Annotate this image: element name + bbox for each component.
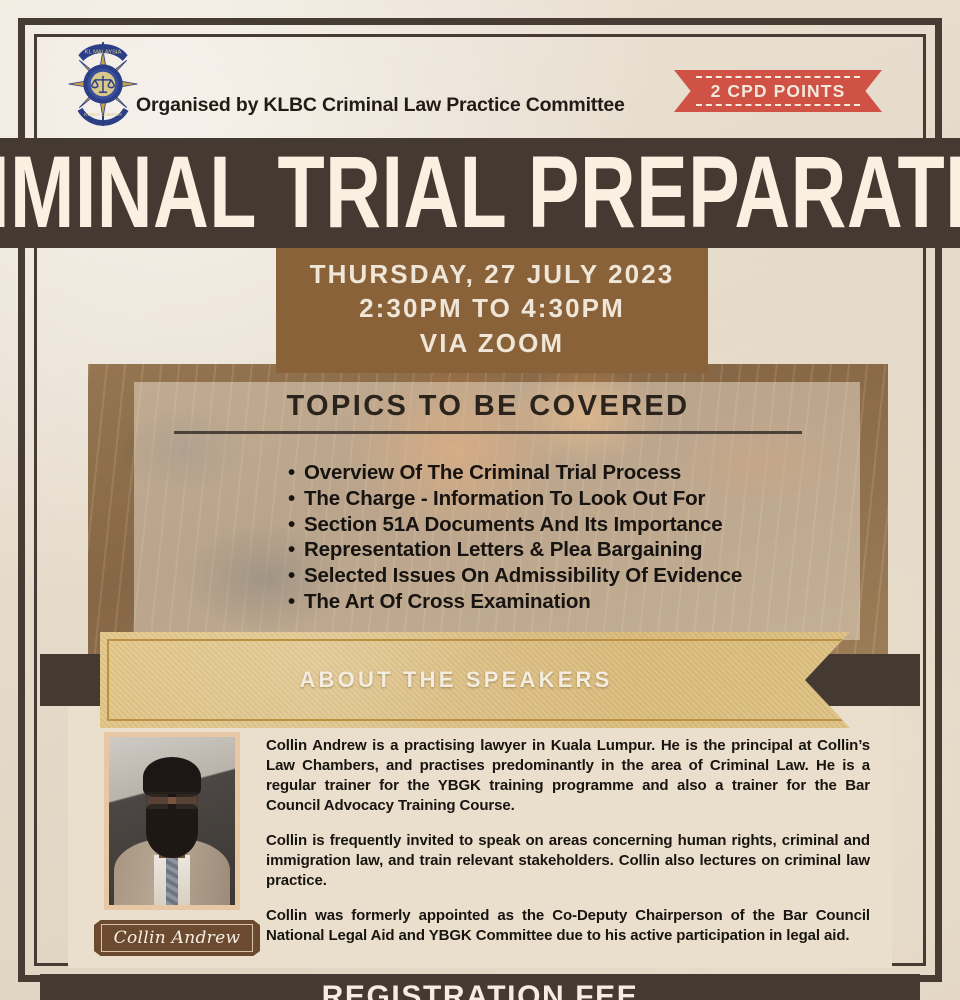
bio-paragraph: Collin is frequently invited to speak on… [266,831,870,891]
event-time: 2:30PM TO 4:30PM [276,291,708,325]
speaker-portrait-image [109,737,235,905]
list-item: Representation Letters & Plea Bargaining [288,537,848,563]
poster-header: KL MALAYSIA KUALA LUMPUR Organised by KL… [40,40,920,138]
glasses-icon [146,792,199,809]
registration-fee-bar: REGISTRATION FEE [40,974,920,1000]
bio-paragraph: Collin Andrew is a practising lawyer in … [266,736,870,816]
title-bar: CRIMINAL TRIAL PREPARATION [0,138,960,248]
about-the-speakers-ribbon: ABOUT THE SPEAKERS [100,632,850,728]
list-item: The Charge - Information To Look Out For [288,486,848,512]
speaker-section: Collin Andrew Collin Andrew is a practis… [68,706,892,968]
organiser-label: Organised by KLBC Criminal Law Practice … [136,94,625,117]
kl-bar-committee-logo-icon: KL MALAYSIA KUALA LUMPUR [62,38,144,130]
list-item: Selected Issues On Admissibility Of Evid… [288,563,848,589]
event-details-box: THURSDAY, 27 JULY 2023 2:30PM TO 4:30PM … [276,248,708,373]
event-poster: TOPICS TO BE COVERED Overview Of The Cri… [0,0,960,1000]
speaker-bio: Collin Andrew is a practising lawyer in … [266,736,870,960]
event-platform: VIA ZOOM [276,326,708,360]
list-item: The Art Of Cross Examination [288,589,848,615]
cpd-points-badge: 2 CPD POINTS [674,70,882,112]
topics-photo-panel: TOPICS TO BE COVERED Overview Of The Cri… [88,364,888,654]
event-date: THURSDAY, 27 JULY 2023 [276,257,708,291]
registration-fee-heading: REGISTRATION FEE [40,982,920,1000]
avatar [104,732,240,910]
speakers-section-title: ABOUT THE SPEAKERS [299,667,612,693]
bio-paragraph: Collin was formerly appointed as the Co-… [266,906,870,946]
list-item: Section 51A Documents And Its Importance [288,512,848,538]
topics-divider [174,431,802,434]
cpd-points-label: 2 CPD POINTS [711,81,846,102]
list-item: Overview Of The Criminal Trial Process [288,460,848,486]
topics-list: Overview Of The Criminal Trial Process T… [128,460,848,615]
svg-text:KUALA LUMPUR: KUALA LUMPUR [84,112,122,118]
topics-heading: TOPICS TO BE COVERED [128,390,848,423]
svg-text:KL MALAYSIA: KL MALAYSIA [85,50,122,56]
speaker-name: Collin Andrew [114,928,241,948]
speaker-nameplate: Collin Andrew [94,920,260,956]
page-title: CRIMINAL TRIAL PREPARATION [0,144,960,241]
